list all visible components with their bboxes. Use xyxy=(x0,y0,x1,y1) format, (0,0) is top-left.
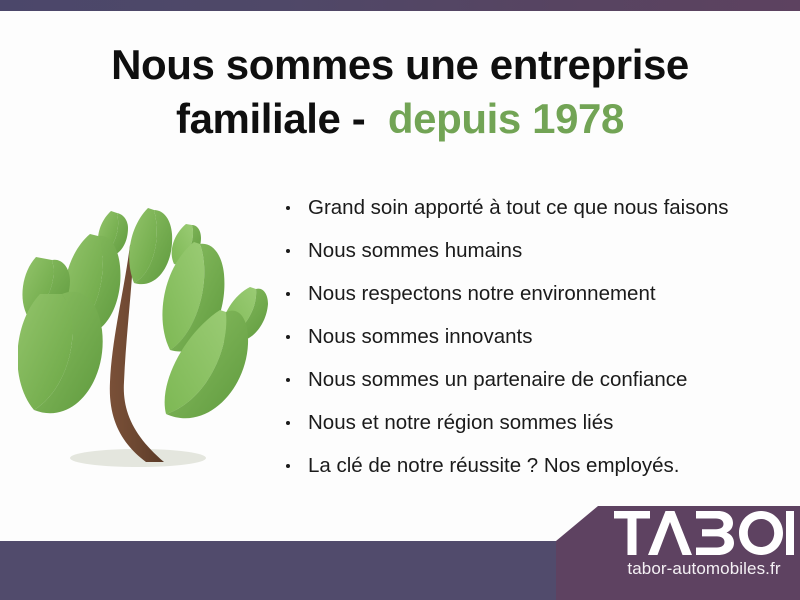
list-item-label: La clé de notre réussite ? Nos employés. xyxy=(308,454,679,477)
top-accent-band xyxy=(0,0,800,11)
list-item-label: Nous sommes innovants xyxy=(308,325,532,348)
bullet-dot-icon xyxy=(286,421,290,425)
brand-url: tabor-automobiles.fr xyxy=(614,559,794,579)
title-line-2: familiale - depuis 1978 xyxy=(40,92,760,146)
bullet-dot-icon xyxy=(286,464,290,468)
value-proposition-list: Grand soin apporté à tout ce que nous fa… xyxy=(283,186,783,487)
list-item: Nous sommes humains xyxy=(283,229,783,272)
bullet-dot-icon xyxy=(286,378,290,382)
list-item-label: Nous et notre région sommes liés xyxy=(308,411,613,434)
tree-illustration xyxy=(18,182,268,482)
page-title: Nous sommes une entreprise familiale - d… xyxy=(40,38,760,146)
bullet-dot-icon xyxy=(286,292,290,296)
list-item: Nous et notre région sommes liés xyxy=(283,401,783,444)
list-item-label: Nous respectons notre environnement xyxy=(308,282,656,305)
list-item: Nous sommes un partenaire de confiance xyxy=(283,358,783,401)
bullet-dot-icon xyxy=(286,249,290,253)
bullet-dot-icon xyxy=(286,335,290,339)
title-line-2-plain: familiale - xyxy=(176,95,365,142)
list-item-label: Nous sommes un partenaire de confiance xyxy=(308,368,687,391)
list-item: Nous respectons notre environnement xyxy=(283,272,783,315)
bullet-dot-icon xyxy=(286,206,290,210)
list-item: Nous sommes innovants xyxy=(283,315,783,358)
slide-canvas: Nous sommes une entreprise familiale - d… xyxy=(0,0,800,600)
title-accent-since: depuis 1978 xyxy=(388,95,624,142)
title-line-1: Nous sommes une entreprise xyxy=(40,38,760,92)
list-item: La clé de notre réussite ? Nos employés. xyxy=(283,444,783,487)
list-item: Grand soin apporté à tout ce que nous fa… xyxy=(283,186,783,229)
list-item-label: Nous sommes humains xyxy=(308,239,522,262)
list-item-label: Grand soin apporté à tout ce que nous fa… xyxy=(308,196,729,219)
tabor-wordmark xyxy=(614,511,794,555)
